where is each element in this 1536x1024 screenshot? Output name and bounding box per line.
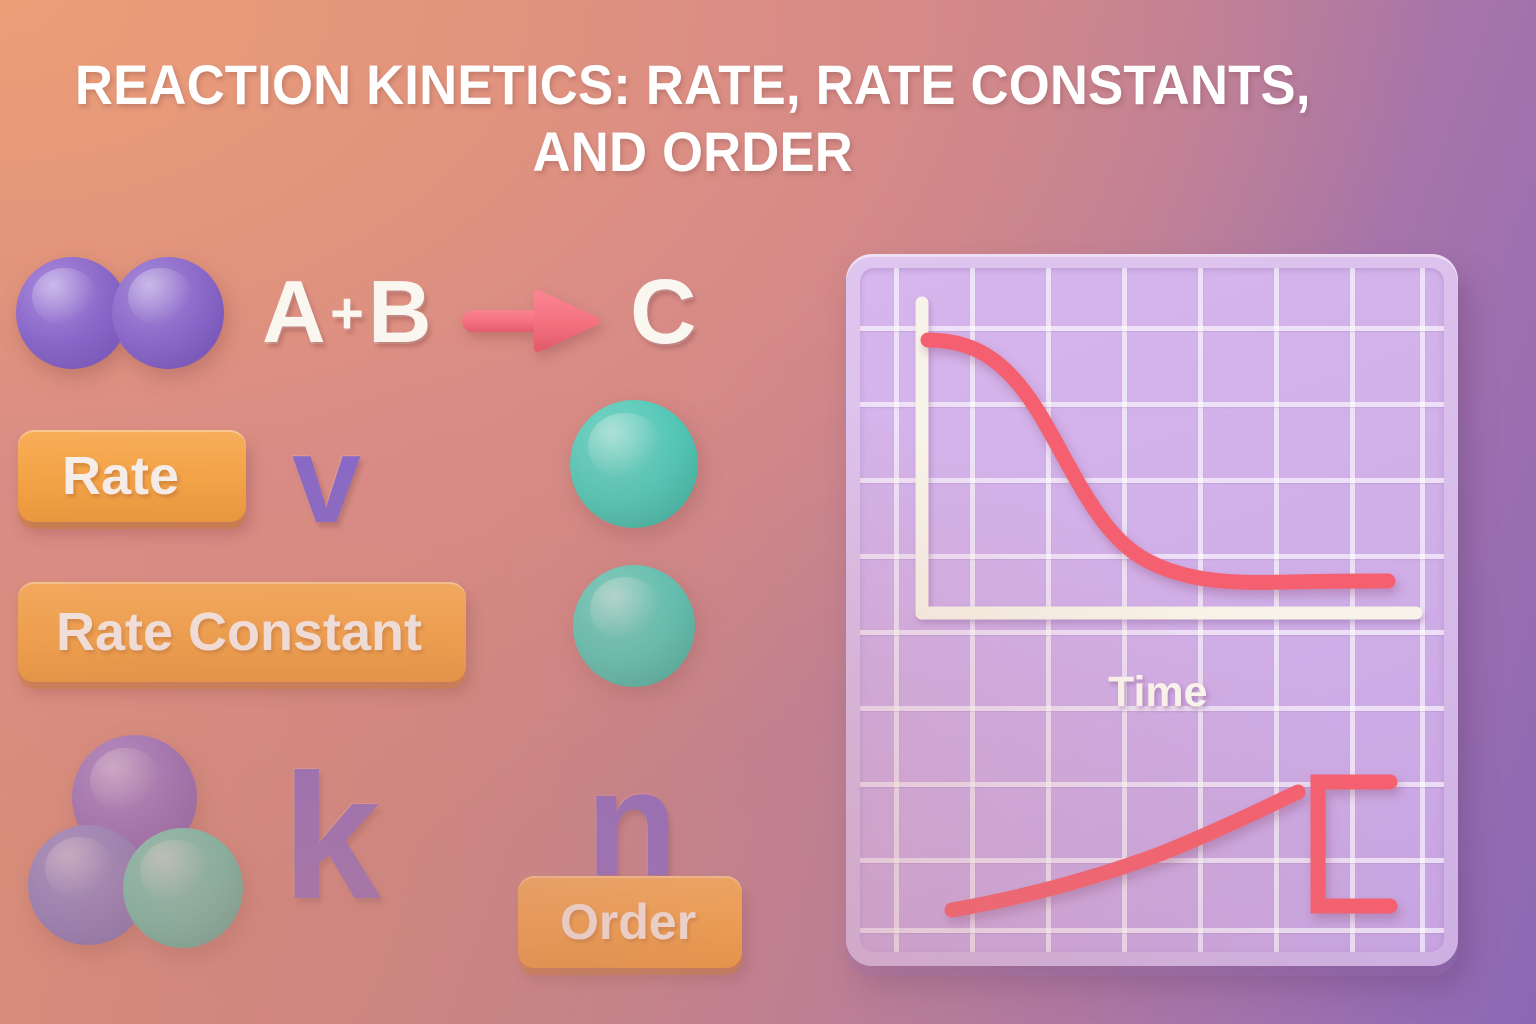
product-sphere-teal — [570, 400, 698, 528]
diatomic-molecule-icon — [16, 255, 226, 370]
reactant-b-label: B — [368, 268, 432, 356]
triatomic-molecule-icon — [28, 735, 243, 950]
chart-plot-area: Time — [860, 268, 1444, 952]
chart-series-lines — [860, 268, 1444, 952]
page-title: REACTION KINETICS: RATE, RATE CONSTANTS,… — [0, 52, 1372, 185]
reactant-a-label: A — [262, 268, 326, 356]
product-sphere-teal — [573, 565, 695, 687]
arrow-right-icon — [460, 290, 600, 352]
atom-sphere-teal — [123, 828, 243, 948]
concentration-bracket-icon — [1318, 782, 1390, 906]
series-decay-line — [928, 340, 1388, 582]
badge-rate-constant[interactable]: Rate Constant — [18, 582, 466, 682]
chart-xaxis-label: Time — [1108, 668, 1208, 717]
badge-order[interactable]: Order — [518, 876, 742, 968]
atom-sphere-purple — [112, 257, 224, 369]
poster-canvas: REACTION KINETICS: RATE, RATE CONSTANTS,… — [0, 0, 1536, 1024]
product-c-label: C — [630, 266, 696, 358]
plus-sign-label: + — [330, 285, 364, 343]
rate-constant-symbol-k: k — [282, 748, 381, 926]
badge-rate[interactable]: Rate — [18, 430, 246, 522]
rate-symbol-v: v — [292, 418, 361, 542]
kinetics-chart-panel: Time — [846, 254, 1458, 966]
series-growth-line — [952, 792, 1298, 910]
